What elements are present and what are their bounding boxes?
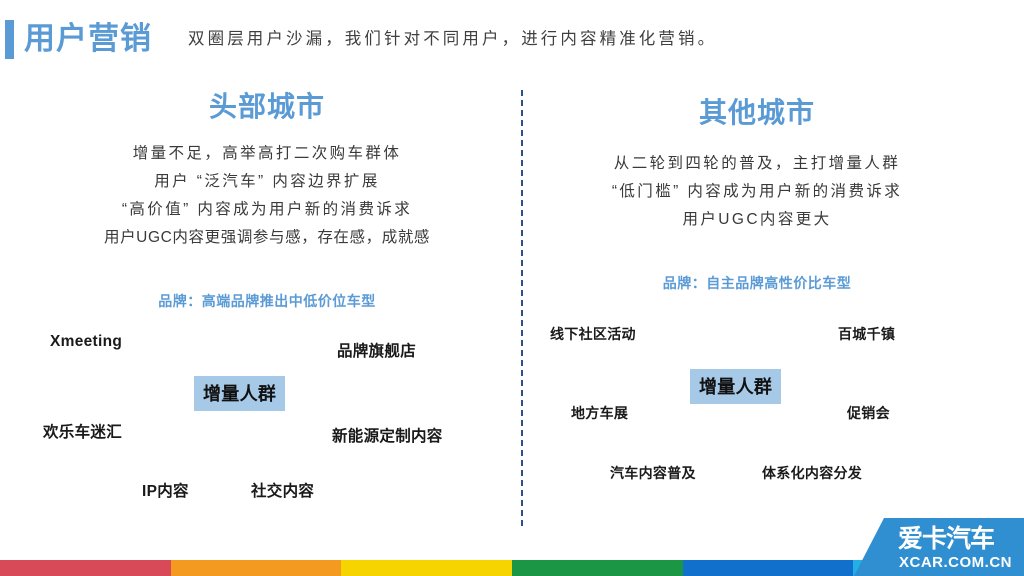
- description-line: “低门槛” 内容成为用户新的消费诉求: [522, 178, 992, 206]
- keyword-item: 品牌旗舰店: [337, 339, 416, 361]
- keyword-item: 地方车展: [571, 403, 628, 423]
- keyword-item: 线下社区活动: [550, 324, 636, 344]
- logo-text-en: XCAR.COM.CN: [899, 554, 1012, 572]
- keyword-item: 体系化内容分发: [762, 463, 862, 483]
- column-description-other-cities: 从二轮到四轮的普及，主打增量人群 “低门槛” 内容成为用户新的消费诉求 用户UG…: [522, 150, 992, 234]
- column-title-head-cities: 头部城市: [32, 88, 502, 126]
- footer-color-segment-3: [341, 560, 512, 576]
- keyword-item: Xmeeting: [50, 333, 122, 351]
- keyword-highlight: 增量人群: [194, 376, 285, 411]
- keyword-item: IP内容: [142, 479, 189, 501]
- description-line: 增量不足，高举高打二次购车群体: [32, 140, 502, 168]
- description-line: 从二轮到四轮的普及，主打增量人群: [522, 150, 992, 178]
- keyword-item: 汽车内容普及: [610, 463, 696, 483]
- keyword-item: 百城千镇: [838, 324, 895, 344]
- brand-strategy-other-cities: 品牌：自主品牌高性价比车型: [522, 273, 992, 293]
- footer-color-segment-2: [171, 560, 342, 576]
- description-line: 用户UGC内容更大: [522, 206, 992, 234]
- description-line: 用户UGC内容更强调参与感，存在感，成就感: [32, 224, 502, 252]
- column-title-other-cities: 其他城市: [522, 94, 992, 132]
- column-head-cities: 头部城市 增量不足，高举高打二次购车群体 用户 “泛汽车” 内容边界扩展 “高价…: [32, 88, 502, 528]
- keyword-cloud-head-cities: Xmeeting品牌旗舰店增量人群欢乐车迷汇新能源定制内容IP内容社交内容: [32, 329, 502, 504]
- column-description-head-cities: 增量不足，高举高打二次购车群体 用户 “泛汽车” 内容边界扩展 “高价值” 内容…: [32, 140, 502, 252]
- page-subtitle: 双圈层用户沙漏，我们针对不同用户，进行内容精准化营销。: [188, 26, 717, 52]
- keyword-highlight: 增量人群: [690, 369, 781, 404]
- keyword-cloud-other-cities: 线下社区活动百城千镇增量人群地方车展促销会汽车内容普及体系化内容分发: [522, 311, 992, 486]
- xcar-logo: 爱卡汽车 XCAR.COM.CN: [854, 518, 1024, 576]
- keyword-item: 欢乐车迷汇: [43, 420, 122, 442]
- brand-strategy-head-cities: 品牌：高端品牌推出中低价位车型: [32, 291, 502, 311]
- keyword-item: 促销会: [847, 403, 890, 423]
- page-header: 用户营销 双圈层用户沙漏，我们针对不同用户，进行内容精准化营销。: [0, 0, 1024, 78]
- footer-color-segment-1: [0, 560, 171, 576]
- page-title: 用户营销: [24, 19, 152, 59]
- logo-text-cn: 爱卡汽车: [898, 525, 994, 553]
- description-line: 用户 “泛汽车” 内容边界扩展: [32, 168, 502, 196]
- keyword-item: 新能源定制内容: [332, 424, 443, 446]
- description-line: “高价值” 内容成为用户新的消费诉求: [32, 196, 502, 224]
- header-accent-bar: [5, 20, 14, 59]
- keyword-item: 社交内容: [251, 479, 314, 501]
- footer-color-segment-5: [683, 560, 854, 576]
- column-other-cities: 其他城市 从二轮到四轮的普及，主打增量人群 “低门槛” 内容成为用户新的消费诉求…: [522, 88, 992, 528]
- footer-color-segment-4: [512, 560, 683, 576]
